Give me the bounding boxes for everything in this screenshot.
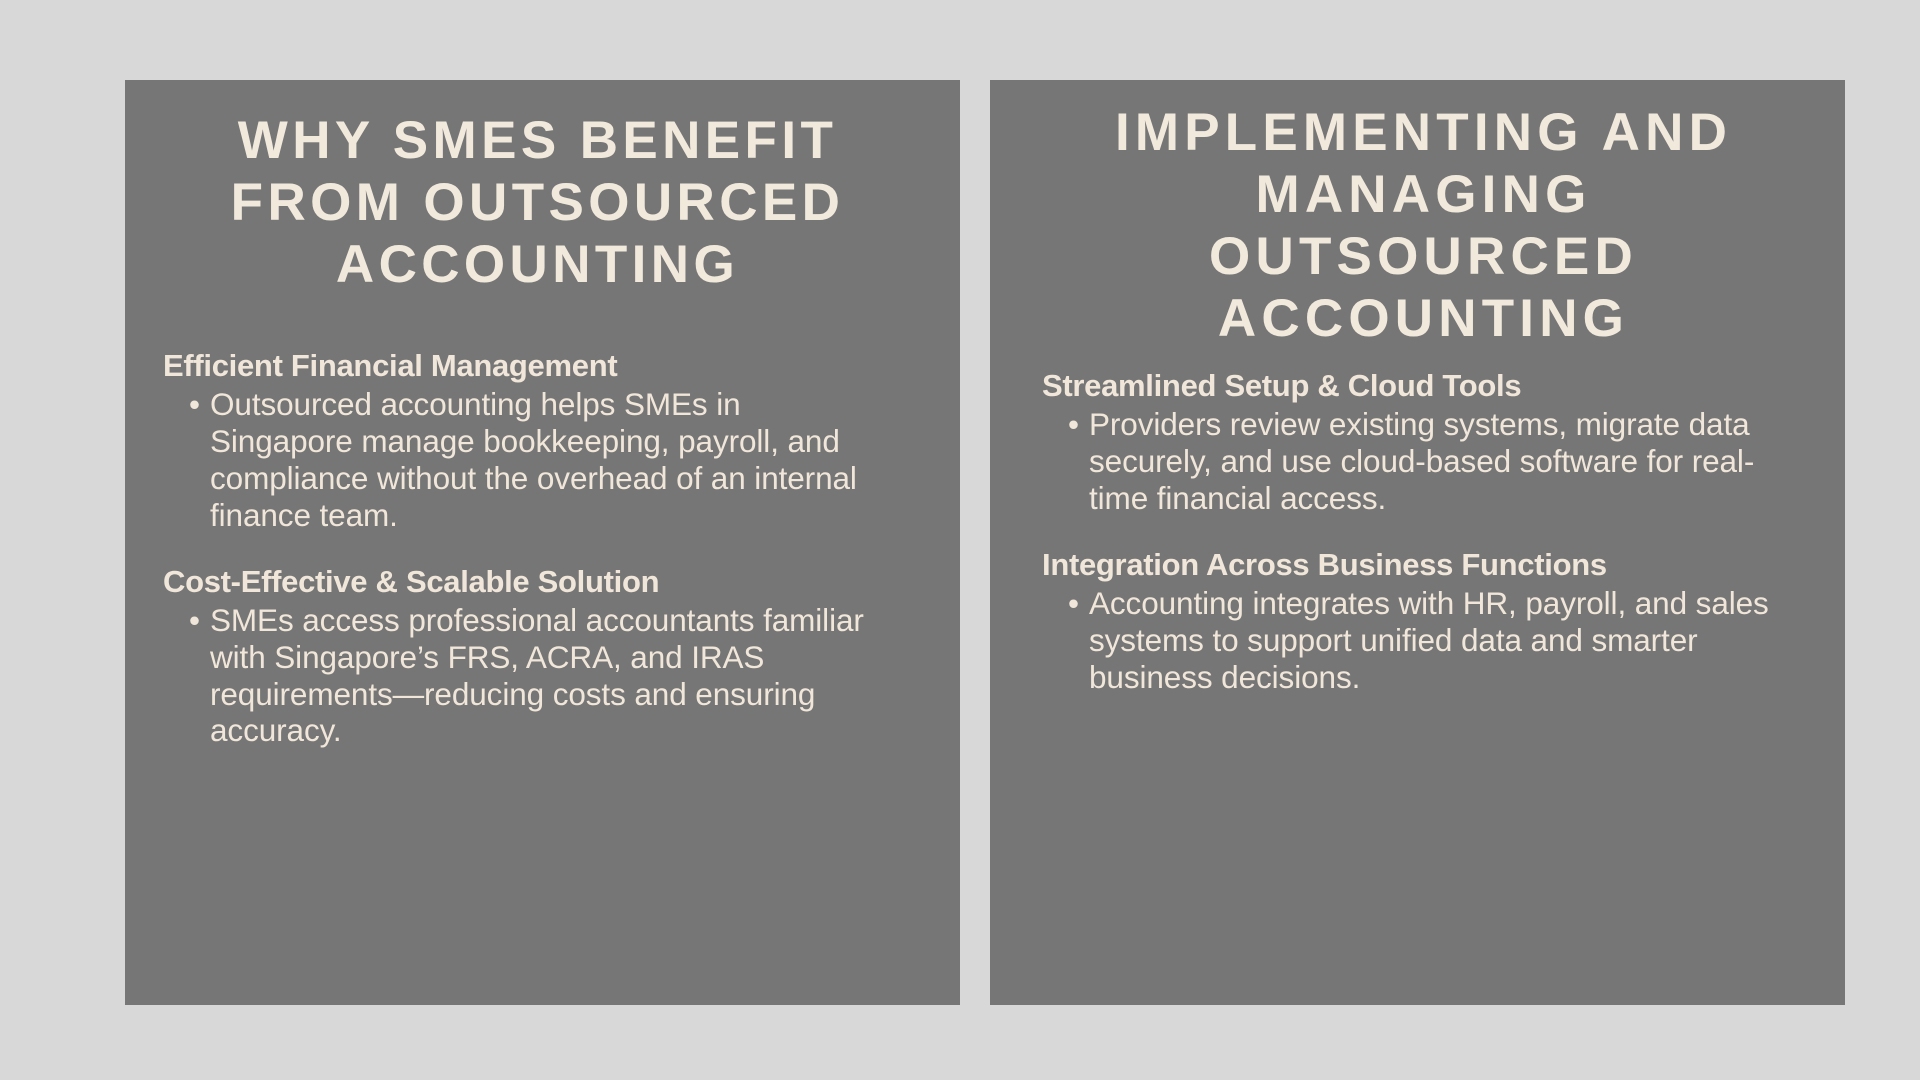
bullet-list: • Accounting integrates with HR, payroll… <box>1042 585 1805 696</box>
bullet-list: • Outsourced accounting helps SMEs in Si… <box>163 386 912 533</box>
list-item: • Accounting integrates with HR, payroll… <box>1042 585 1805 696</box>
card-why-smes-benefit: WHY SMES BENEFIT FROM OUTSOURCED ACCOUNT… <box>125 80 960 1005</box>
section-efficient-financial-management: Efficient Financial Management • Outsour… <box>163 348 912 534</box>
card-container: WHY SMES BENEFIT FROM OUTSOURCED ACCOUNT… <box>125 80 1845 1005</box>
list-item: • Providers review existing systems, mig… <box>1042 406 1805 517</box>
section-heading: Cost-Effective & Scalable Solution <box>163 564 912 600</box>
section-heading: Efficient Financial Management <box>163 348 912 384</box>
card-body: Efficient Financial Management • Outsour… <box>163 296 912 749</box>
bullet-list: • Providers review existing systems, mig… <box>1042 406 1805 517</box>
card-title: IMPLEMENTING AND MANAGING OUTSOURCED ACC… <box>1042 102 1805 350</box>
bullet-dot-icon: • <box>189 602 203 639</box>
list-item-text: Outsourced accounting helps SMEs in Sing… <box>210 386 857 533</box>
section-heading: Streamlined Setup & Cloud Tools <box>1042 368 1805 404</box>
card-title: WHY SMES BENEFIT FROM OUTSOURCED ACCOUNT… <box>163 110 912 296</box>
bullet-dot-icon: • <box>189 386 203 423</box>
section-cost-effective-scalable-solution: Cost-Effective & Scalable Solution • SME… <box>163 564 912 750</box>
list-item: • Outsourced accounting helps SMEs in Si… <box>163 386 912 533</box>
section-heading: Integration Across Business Functions <box>1042 547 1805 583</box>
bullet-dot-icon: • <box>1068 585 1082 622</box>
card-body: Streamlined Setup & Cloud Tools • Provid… <box>1042 350 1805 696</box>
bullet-list: • SMEs access professional accountants f… <box>163 602 912 749</box>
list-item-text: SMEs access professional accountants fam… <box>210 602 864 749</box>
card-implementing-and-managing: IMPLEMENTING AND MANAGING OUTSOURCED ACC… <box>990 80 1845 1005</box>
list-item: • SMEs access professional accountants f… <box>163 602 912 749</box>
section-integration-across-business-functions: Integration Across Business Functions • … <box>1042 547 1805 696</box>
list-item-text: Accounting integrates with HR, payroll, … <box>1089 585 1769 695</box>
bullet-dot-icon: • <box>1068 406 1082 443</box>
list-item-text: Providers review existing systems, migra… <box>1089 406 1754 516</box>
slide-canvas: WHY SMES BENEFIT FROM OUTSOURCED ACCOUNT… <box>0 0 1920 1080</box>
section-streamlined-setup-cloud-tools: Streamlined Setup & Cloud Tools • Provid… <box>1042 368 1805 517</box>
